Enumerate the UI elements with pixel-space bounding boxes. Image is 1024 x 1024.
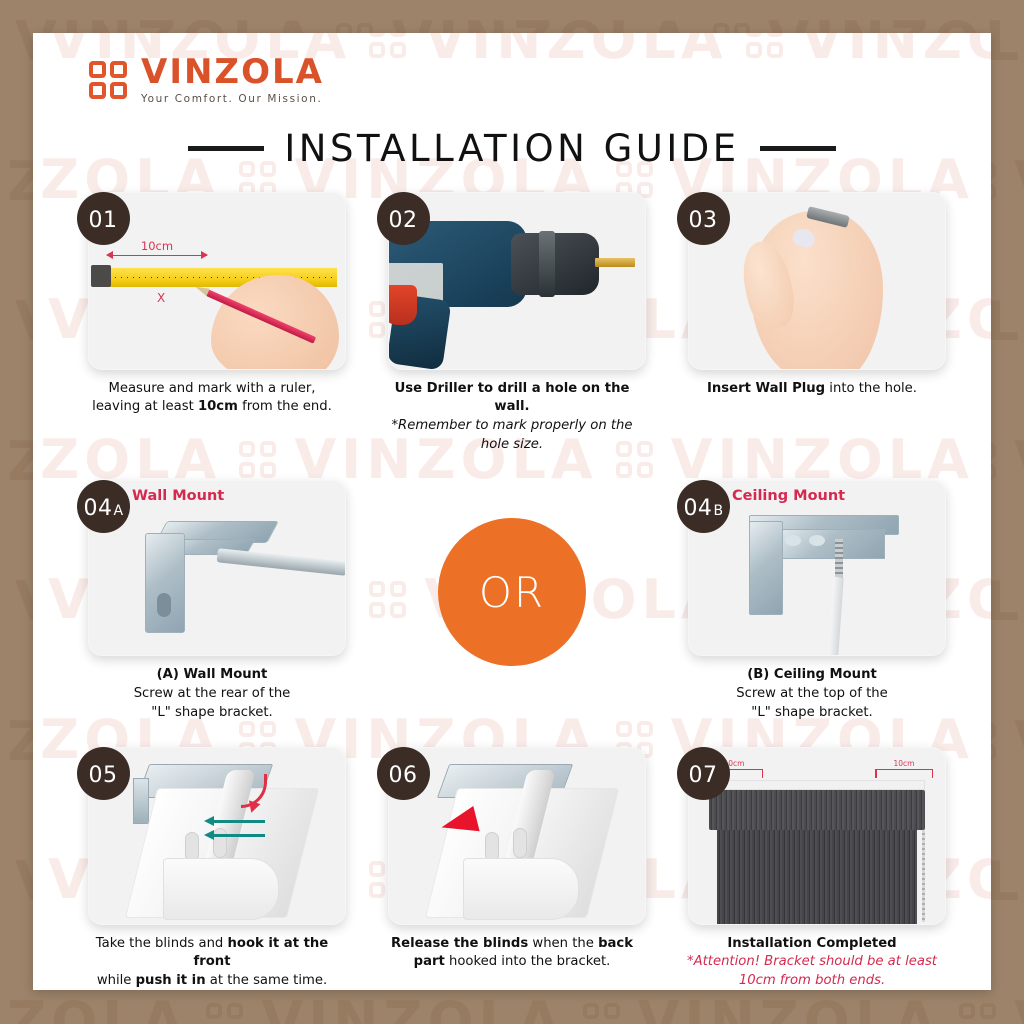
watermark-text: VINZOLA — [1014, 990, 1024, 1024]
watermark-text: VINZOLA — [1014, 710, 1024, 773]
brand-header: VINZOLA Your Comfort. Our Mission. — [89, 55, 961, 105]
bracket-tab-icon — [133, 778, 149, 824]
vinzola-logo-icon — [89, 61, 127, 99]
rail-endcap-icon — [163, 858, 279, 920]
dimension-label: 10cm — [107, 239, 207, 253]
step-03-caption: Insert Wall Plug into the hole. — [677, 380, 947, 399]
x-mark-label: X — [157, 291, 165, 305]
watermark-row: VINZOLAVINZOLAVINZOLAVINZOLAVINZOLA — [0, 990, 1024, 1024]
brand-tagline: Your Comfort. Our Mission. — [141, 94, 324, 105]
screw-icon — [835, 539, 843, 579]
step-04a-mount-label: Wall Mount — [132, 488, 224, 504]
step-04b-mount-label: Ceiling Mount — [732, 488, 845, 504]
title-rule-right — [760, 146, 836, 151]
bracket-hole-icon — [157, 593, 171, 617]
steps-row-1: 10cm X 01 Measure and mark — [63, 192, 961, 455]
brand-name: VINZOLA — [141, 55, 324, 89]
steps-row-3: 05 Take the blinds and hook it at the fr… — [63, 747, 961, 990]
or-badge: OR — [438, 518, 586, 666]
step-badge-06: 06 — [377, 747, 430, 800]
or-divider: OR — [377, 480, 647, 666]
step-badge-03: 03 — [677, 192, 730, 245]
teal-arrow-icon — [213, 820, 265, 823]
watermark-text: VINZOLA — [0, 990, 188, 1024]
drill-collar-icon — [539, 231, 555, 297]
watermark-text: VINZOLA — [1014, 150, 1024, 213]
guide-page: VINZOLAVINZOLAVINZOLAVINZOLAVINZOLAVINZO… — [0, 0, 1024, 1024]
step-badge-02: 02 — [377, 192, 430, 245]
rail-slot-icon — [213, 828, 227, 858]
step-03: 03 Insert Wall Plug into the hole. — [677, 192, 947, 455]
watermark-text: VINZOLA — [261, 990, 564, 1024]
step-05: 05 Take the blinds and hook it at the fr… — [77, 747, 347, 990]
dimension-right: 10cm — [875, 760, 933, 777]
step-02: 02 Use Driller to drill a hole on the wa… — [377, 192, 647, 455]
tape-hook-icon — [91, 265, 111, 287]
teal-arrow-icon — [213, 834, 265, 837]
page-title: INSTALLATION GUIDE — [284, 127, 739, 170]
bracket-vertical-plate-icon — [145, 533, 185, 633]
page-title-row: INSTALLATION GUIDE — [63, 127, 961, 170]
step-04a-caption: (A) Wall MountScrew at the rear of the"L… — [77, 666, 347, 722]
drill-trigger-icon — [388, 285, 417, 325]
rail-endcap-icon — [463, 858, 579, 920]
watermark-logo-icon — [959, 1003, 996, 1024]
title-rule-left — [188, 146, 264, 151]
screwdriver-icon — [828, 577, 844, 656]
screwdriver-icon — [217, 549, 346, 577]
drill-chuck-icon — [511, 233, 599, 295]
step-06-caption: Release the blinds when the backpart hoo… — [377, 935, 647, 972]
step-04b: Ceiling Mount 04B (B) Ceiling MountScrew… — [677, 480, 947, 722]
rail-slot-icon — [513, 828, 527, 858]
blind-chain-icon — [922, 830, 925, 922]
step-badge-01: 01 — [77, 192, 130, 245]
bracket-vertical-plate-icon — [749, 521, 783, 615]
step-07: 10cm 10cm — [677, 747, 947, 990]
dimension-arrow — [107, 255, 207, 263]
watermark-logo-icon — [583, 1003, 620, 1024]
dimension-10cm: 10cm — [107, 239, 207, 263]
steps-row-2: Wall Mount 04A (A) Wall MountScrew at th… — [63, 480, 961, 722]
step-02-caption: Use Driller to drill a hole on the wall.… — [377, 380, 647, 455]
step-07-caption: Installation Completed*Attention! Bracke… — [677, 935, 947, 990]
watermark-text: VINZOLA — [1014, 430, 1024, 493]
step-01: 10cm X 01 Measure and mark — [77, 192, 347, 455]
drill-bit-icon — [595, 258, 635, 267]
step-04a: Wall Mount 04A (A) Wall MountScrew at th… — [77, 480, 347, 722]
watermark-text: VINZOLA — [638, 990, 941, 1024]
dimension-right-label: 10cm — [875, 760, 933, 768]
step-05-caption: Take the blinds and hook it at the front… — [77, 935, 347, 990]
blind-roll-icon — [709, 790, 925, 830]
watermark-logo-icon — [206, 1003, 243, 1024]
guide-sheet: VINZOLAVINZOLAVINZOLAVINZOLAVINZOLAVINZO… — [33, 33, 991, 990]
step-badge-05: 05 — [77, 747, 130, 800]
blind-headrail-icon — [709, 780, 925, 790]
blind-fabric-icon — [717, 830, 917, 924]
step-06: 06 Release the blinds when the backpart … — [377, 747, 647, 990]
step-01-caption: Measure and mark with a ruler,leaving at… — [77, 380, 347, 417]
step-04b-caption: (B) Ceiling MountScrew at the top of the… — [677, 666, 947, 722]
step-badge-07: 07 — [677, 747, 730, 800]
dimension-right-bar — [875, 769, 933, 776]
